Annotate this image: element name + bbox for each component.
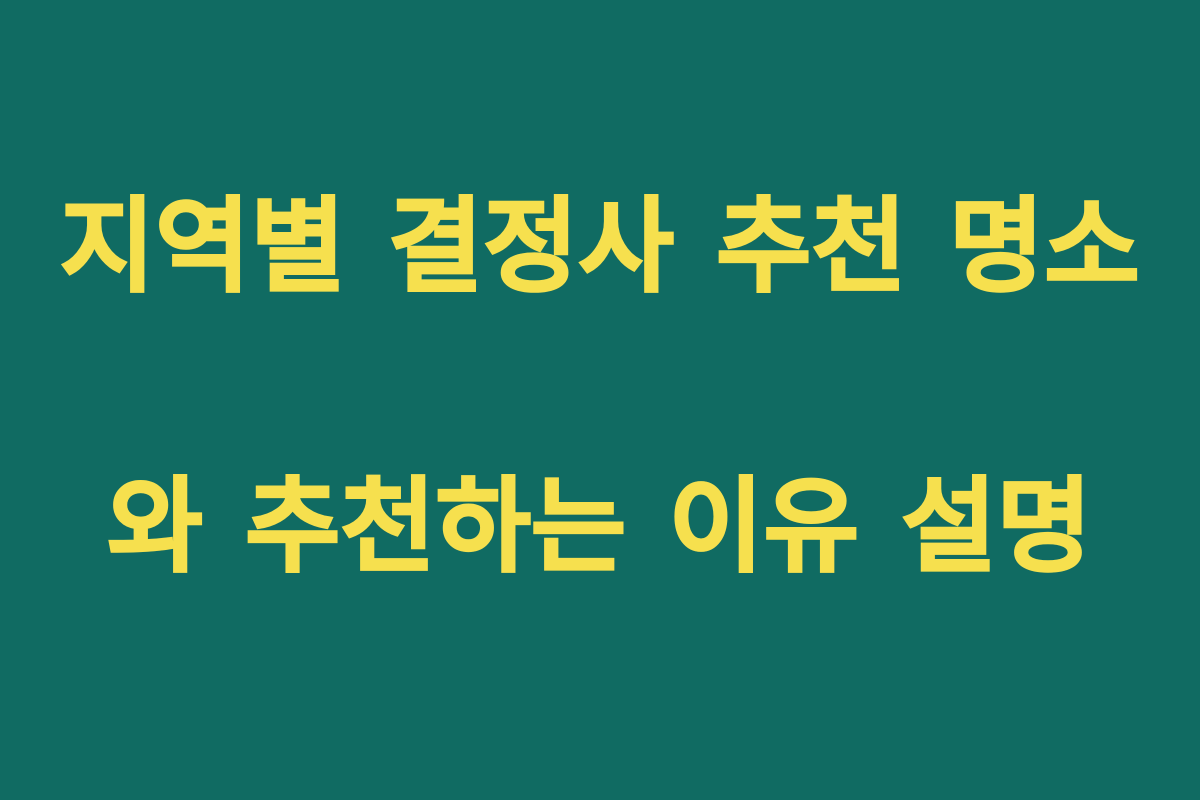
headline-line-2: 와 추천하는 이유 설명 [55,457,1145,597]
page-title: 지역별 결정사 추천 명소 와 추천하는 이유 설명 [55,37,1145,737]
title-card: 지역별 결정사 추천 명소 와 추천하는 이유 설명 [0,0,1200,800]
headline-line-1: 지역별 결정사 추천 명소 [55,177,1145,317]
